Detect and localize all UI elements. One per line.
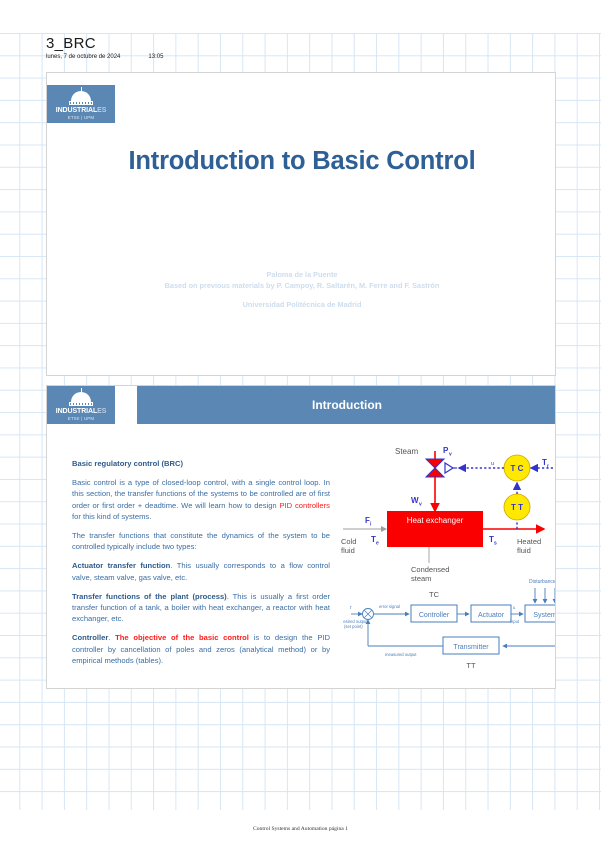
svg-text:Transmitter: Transmitter — [453, 644, 489, 651]
svg-text:fluid: fluid — [341, 546, 355, 555]
brand-subtitle: ETSII | UPM — [68, 115, 95, 121]
dome-building-icon — [66, 89, 96, 106]
svg-text:Condensed: Condensed — [411, 565, 449, 574]
heat-exchanger-process-diagram: Heat exchanger T C T T Steam P v — [339, 441, 556, 581]
svg-text:r: r — [547, 464, 549, 470]
svg-text:s: s — [494, 541, 497, 547]
svg-text:v: v — [419, 502, 422, 508]
svg-text:fluid: fluid — [517, 546, 531, 555]
paragraph-2: The transfer functions that constitute t… — [72, 530, 330, 552]
page-footer: Control Systems and Automation página 1 — [0, 826, 601, 832]
slide-introduction[interactable]: INDUSTRIALES ETSII | UPM Introduction Ba… — [46, 385, 556, 689]
svg-text:Heated: Heated — [517, 537, 541, 546]
grid-mask-top — [0, 0, 601, 33]
slide-header-title: Introduction — [137, 398, 556, 412]
slide-authors: Paloma de la Puente Based on previous ma… — [47, 269, 556, 291]
svg-text:T C: T C — [511, 464, 524, 473]
svg-text:Actuator: Actuator — [478, 612, 505, 619]
author-name: Paloma de la Puente — [47, 269, 556, 280]
svg-text:input: input — [510, 619, 520, 624]
svg-text:TT: TT — [466, 661, 476, 670]
document-title: 3_BRC — [46, 35, 566, 52]
slide-header-banner: Introduction — [137, 386, 556, 424]
svg-text:i: i — [370, 522, 372, 528]
svg-text:v: v — [449, 452, 452, 458]
brand-logo: INDUSTRIALES ETSII | UPM — [47, 386, 115, 424]
svg-text:W: W — [411, 496, 419, 505]
brand-name: INDUSTRIALES — [56, 107, 107, 115]
svg-text:TC: TC — [429, 590, 440, 599]
brand-name: INDUSTRIALES — [56, 408, 107, 416]
closed-loop-block-diagram: r desired output (set point) error signa… — [343, 576, 556, 671]
svg-text:T T: T T — [511, 503, 523, 512]
university-name: Universidad Politécnica de Madrid — [47, 300, 556, 309]
svg-text:System: System — [533, 612, 556, 619]
document-meta: lunes, 7 de octubre de 2024 13:05 — [46, 54, 566, 60]
paragraph-3: Actuator transfer function. This usually… — [72, 560, 330, 582]
svg-text:Heat exchanger: Heat exchanger — [407, 516, 464, 525]
document-date: lunes, 7 de octubre de 2024 — [46, 54, 120, 60]
paragraph-1: Basic control is a type of closed-loop c… — [72, 477, 330, 522]
svg-text:u: u — [513, 605, 516, 610]
slide-title: Introduction to Basic Control — [47, 147, 556, 176]
svg-text:Controller: Controller — [419, 612, 450, 619]
brand-subtitle: ETSII | UPM — [68, 416, 95, 422]
svg-text:Steam: Steam — [395, 447, 418, 456]
svg-text:r: r — [350, 605, 352, 611]
svg-text:measured output: measured output — [385, 652, 417, 657]
document-header: 3_BRC lunes, 7 de octubre de 2024 13:05 — [46, 35, 566, 60]
brand-logo: INDUSTRIALES ETSII | UPM — [47, 85, 115, 123]
document-time: 13:05 — [148, 54, 163, 60]
svg-text:Cold: Cold — [341, 537, 356, 546]
slide-title-page[interactable]: INDUSTRIALES ETSII | UPM Introduction to… — [46, 72, 556, 376]
author-credits: Based on previous materials by P. Campoy… — [47, 280, 556, 291]
svg-text:(set point): (set point) — [344, 624, 363, 629]
svg-text:Disturbances: Disturbances — [529, 579, 556, 585]
svg-text:u: u — [491, 461, 494, 467]
slide-body-text: Basic regulatory control (BRC) Basic con… — [72, 458, 330, 674]
paragraph-heading: Basic regulatory control (BRC) — [72, 458, 330, 469]
svg-text:e: e — [376, 541, 379, 547]
svg-text:error signal: error signal — [379, 604, 400, 609]
dome-building-icon — [66, 390, 96, 407]
paragraph-4: Transfer functions of the plant (process… — [72, 591, 330, 625]
paragraph-5: Controller. The objective of the basic c… — [72, 632, 330, 666]
